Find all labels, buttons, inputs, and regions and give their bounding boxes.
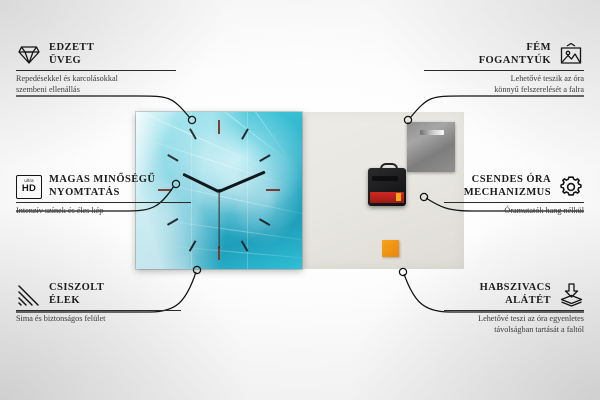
mechanism-slot	[372, 176, 398, 181]
callout-header: FÉM FOGANTYÚK	[424, 42, 584, 67]
callout-header: EDZETT ÜVEG	[16, 42, 176, 67]
callout-header: ultra HD MAGAS MINŐSÉGŰ NYOMTATÁS	[16, 174, 191, 199]
callout-title-line1: CSENDES ÓRA	[464, 174, 551, 187]
callout-header: HABSZIVACS ALÁTÉT	[444, 282, 584, 307]
callout-title-line1: CSISZOLT	[49, 282, 104, 295]
callout-foam-pad[interactable]: HABSZIVACS ALÁTÉT Lehetővé teszi az óra …	[444, 282, 584, 335]
callout-polished-edges[interactable]: CSISZOLT ÉLEK Sima és biztonságos felüle…	[16, 282, 181, 325]
diamond-icon	[16, 43, 42, 67]
ultra-hd-icon: ultra HD	[16, 175, 42, 199]
callout-subtitle-line2: szembeni ellenállás	[16, 85, 176, 96]
callout-title-line2: ÉLEK	[49, 295, 104, 308]
gear-icon	[558, 175, 584, 199]
callout-title-line1: MAGAS MINŐSÉGŰ	[49, 174, 155, 187]
callout-title-line2: ALÁTÉT	[480, 295, 551, 308]
bevelled-edges-icon	[16, 283, 42, 307]
clock-second-hand	[218, 191, 219, 249]
clock-center-pivot	[218, 189, 221, 192]
callout-divider	[16, 70, 176, 71]
foam-spacer-pad	[382, 240, 399, 257]
infographic-stage: EDZETT ÜVEG Repedésekkel és karcolásokka…	[0, 0, 600, 400]
callout-quiet-mechanism[interactable]: CSENDES ÓRA MECHANIZMUS Óramutatók hang …	[444, 174, 584, 217]
callout-title-line1: EDZETT	[49, 42, 94, 55]
callout-title-line1: FÉM	[479, 42, 551, 55]
ultra-hd-icon-main-text: HD	[22, 184, 36, 194]
callout-divider	[424, 70, 584, 71]
callout-title-line1: HABSZIVACS	[480, 282, 551, 295]
callout-divider	[444, 202, 584, 203]
callout-divider	[444, 310, 584, 311]
callout-subtitle-line2: könnyű felszerelését a falra	[424, 85, 584, 96]
callout-subtitle-line1: Sima és biztonságos felület	[16, 314, 181, 325]
mechanism-hook	[380, 163, 398, 173]
accessories-panel	[300, 112, 464, 269]
callout-subtitle-line1: Lehetővé teszik az óra	[424, 74, 584, 85]
callout-title-line2: ÜVEG	[49, 55, 94, 68]
foam-pad-icon	[558, 283, 584, 307]
metal-hanger-plate	[407, 122, 455, 172]
callout-divider	[16, 202, 191, 203]
callout-tempered-glass[interactable]: EDZETT ÜVEG Repedésekkel és karcolásokka…	[16, 42, 176, 95]
callout-header: CSISZOLT ÉLEK	[16, 282, 181, 307]
battery	[370, 192, 404, 203]
picture-hanger-icon	[558, 43, 584, 67]
callout-header: CSENDES ÓRA MECHANIZMUS	[444, 174, 584, 199]
callout-subtitle-line1: Repedésekkel és karcolásokkal	[16, 74, 176, 85]
callout-subtitle-line2: távolságban tartását a faltól	[444, 325, 584, 336]
callout-title-line2: MECHANIZMUS	[464, 187, 551, 200]
callout-title-line2: NYOMTATÁS	[49, 187, 155, 200]
callout-subtitle-line1: Óramutatók hang nélkül	[444, 206, 584, 217]
callout-subtitle-line1: Intenzív színek és éles kép	[16, 206, 191, 217]
clock-mechanism-module	[368, 168, 406, 206]
callout-metal-handles[interactable]: FÉM FOGANTYÚK Lehetővé teszik az óra kön…	[424, 42, 584, 95]
callout-subtitle-line1: Lehetővé teszi az óra egyenletes	[444, 314, 584, 325]
callout-divider	[16, 310, 181, 311]
callout-title-line2: FOGANTYÚK	[479, 55, 551, 68]
callout-high-quality-print[interactable]: ultra HD MAGAS MINŐSÉGŰ NYOMTATÁS Intenz…	[16, 174, 191, 217]
